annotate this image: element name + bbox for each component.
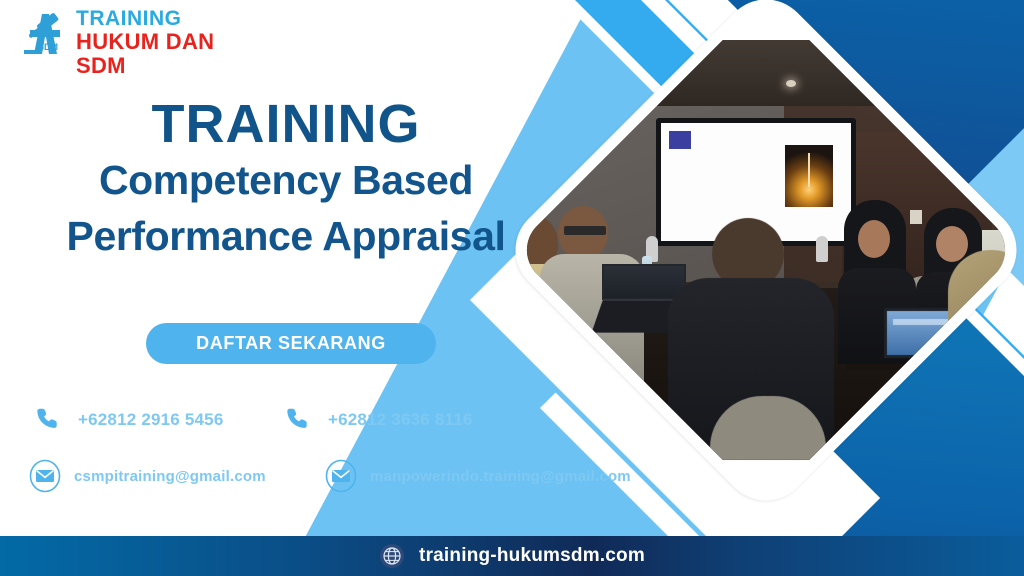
contact-phone-2-value: +62812 3636 8116 (328, 410, 473, 430)
contact-phone-1-value: +62812 2916 5456 (78, 410, 223, 430)
headline-title-line1: Competency Based (16, 152, 556, 208)
footer-bar: training-hukumsdm.com (0, 536, 1024, 576)
contact-email-1-value: csmpitraining@gmail.com (74, 468, 266, 485)
contact-email-2-value: manpowerindo.training@gmail.com (370, 468, 631, 485)
photo-laptop-screen (602, 264, 686, 300)
brand-logo-text: TRAINING HUKUM DAN SDM (76, 8, 266, 78)
envelope-icon (28, 459, 62, 493)
footer-website[interactable]: training-hukumsdm.com (419, 545, 645, 567)
globe-icon (379, 543, 405, 569)
presentation-logo (669, 131, 691, 149)
brand-logo-line2: HUKUM DAN SDM (76, 30, 266, 78)
headline-block: TRAINING Competency Based Performance Ap… (16, 96, 556, 264)
headline-eyebrow: TRAINING (16, 96, 556, 152)
envelope-icon (324, 459, 358, 493)
photo-ceiling-light (786, 80, 796, 87)
photo-person-face (936, 226, 968, 262)
phone-icon (34, 405, 64, 435)
photo-person-face (858, 220, 890, 258)
brand-logo-line1: TRAINING (76, 8, 266, 30)
contact-email-1[interactable]: csmpitraining@gmail.com (28, 459, 324, 493)
photo-wall-plate (910, 210, 922, 224)
contact-phone-1[interactable]: +62812 2916 5456 (34, 405, 284, 435)
brand-logo-mark-label: SDM (38, 42, 58, 52)
brand-logo[interactable]: TRAINING HUKUM DAN SDM SDM (16, 4, 266, 62)
photo-microphone (816, 236, 828, 262)
flyer-canvas: TRAINING HUKUM DAN SDM SDM TRAINING Comp… (0, 0, 1024, 576)
phone-icon (284, 405, 314, 435)
contact-email-2[interactable]: manpowerindo.training@gmail.com (324, 459, 631, 493)
phone-row: +62812 2916 5456 +62812 3636 8116 (0, 396, 700, 444)
contact-block: +62812 2916 5456 +62812 3636 8116 (0, 396, 700, 500)
register-now-button[interactable]: DAFTAR SEKARANG (146, 323, 436, 364)
email-row: csmpitraining@gmail.com manpowerindo.tra… (0, 452, 700, 500)
photo-person-glasses (564, 226, 606, 235)
contact-phone-2[interactable]: +62812 3636 8116 (284, 405, 473, 435)
rocket-launch-photo (785, 145, 833, 207)
headline-title-line2: Performance Appraisal (16, 208, 556, 264)
